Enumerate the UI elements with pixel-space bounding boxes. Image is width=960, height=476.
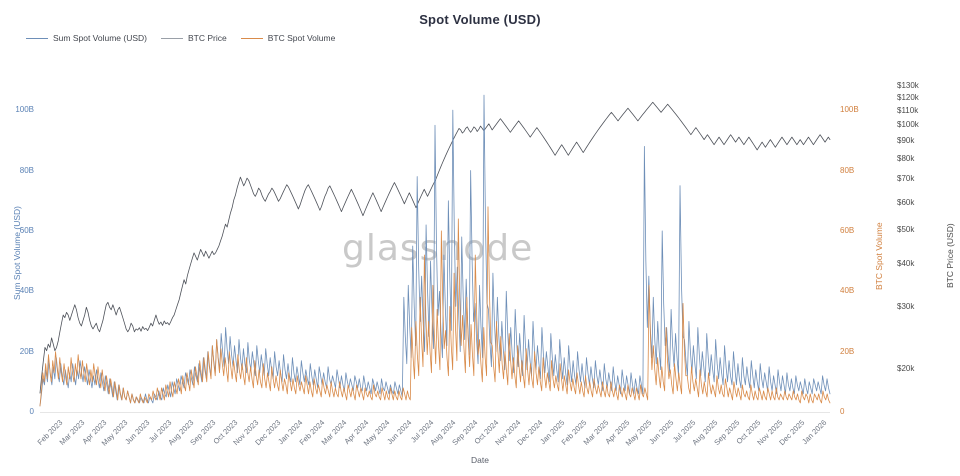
legend-swatch-btc-spot-volume — [241, 38, 263, 39]
y-axis-right-price-tick: $120k — [897, 93, 919, 102]
y-axis-right-volume-tick: 100B — [840, 105, 859, 114]
y-axis-left-tick: 80B — [8, 166, 34, 175]
y-axis-right-price-tick: $110k — [897, 106, 918, 115]
y-axis-right-price-tick: $20k — [897, 364, 914, 373]
legend-swatch-sum-spot-volume — [26, 38, 48, 39]
legend-item-btc-spot-volume[interactable]: BTC Spot Volume — [241, 33, 336, 43]
series-line-sum-spot-volume — [40, 95, 830, 406]
chart-canvas — [40, 80, 830, 412]
plot-area — [40, 80, 830, 412]
y-axis-right-volume-title: BTC Spot Volume — [874, 222, 884, 290]
y-axis-right-price-title: BTC Price (USD) — [945, 223, 955, 288]
y-axis-right-price-tick: $60k — [897, 198, 914, 207]
y-axis-right-volume-tick: 60B — [840, 226, 854, 235]
y-axis-right-price-tick: $100k — [897, 120, 919, 129]
y-axis-right-price-tick: $50k — [897, 225, 914, 234]
page-title: Spot Volume (USD) — [0, 12, 960, 27]
y-axis-right-price-tick: $130k — [897, 81, 919, 90]
series-line-btc-spot-volume — [40, 207, 830, 406]
y-axis-right-price-tick: $90k — [897, 136, 914, 145]
y-axis-right-price-tick: $40k — [897, 259, 914, 268]
legend-label-btc-price: BTC Price — [188, 33, 227, 43]
y-axis-left-tick: 100B — [8, 105, 34, 114]
y-axis-right-price-tick: $70k — [897, 174, 914, 183]
y-axis-right-volume-tick: 20B — [840, 347, 854, 356]
legend-item-sum-spot-volume[interactable]: Sum Spot Volume (USD) — [26, 33, 147, 43]
legend-item-btc-price[interactable]: BTC Price — [161, 33, 227, 43]
x-axis-baseline — [40, 412, 830, 413]
x-axis-title: Date — [0, 455, 960, 465]
y-axis-left-title: Sum Spot Volume (USD) — [12, 206, 22, 300]
y-axis-left-tick: 0 — [8, 407, 34, 416]
y-axis-right-volume-tick: 40B — [840, 286, 854, 295]
y-axis-right-volume-tick: 80B — [840, 166, 854, 175]
legend-label-sum-spot-volume: Sum Spot Volume (USD) — [53, 33, 147, 43]
y-axis-right-volume-tick: 0 — [840, 407, 844, 416]
y-axis-right-price-tick: $30k — [897, 302, 914, 311]
legend-label-btc-spot-volume: BTC Spot Volume — [268, 33, 336, 43]
legend-swatch-btc-price — [161, 38, 183, 39]
y-axis-right-price-tick: $80k — [897, 154, 914, 163]
chart-root: Spot Volume (USD) Sum Spot Volume (USD) … — [0, 0, 960, 476]
chart-legend: Sum Spot Volume (USD) BTC Price BTC Spot… — [26, 33, 335, 43]
y-axis-left-tick: 20B — [8, 347, 34, 356]
